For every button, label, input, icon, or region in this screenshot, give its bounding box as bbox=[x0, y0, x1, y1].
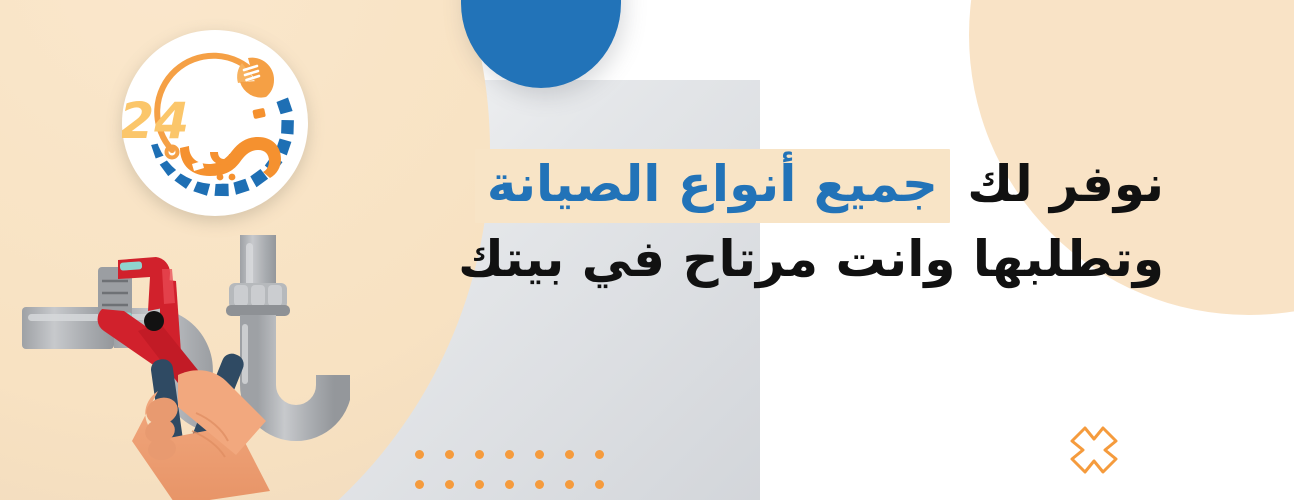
dot bbox=[445, 450, 454, 459]
headline-block: نوفر لك جميع أنواع الصيانة وتطلبها وانت … bbox=[524, 150, 1164, 292]
dot bbox=[505, 450, 514, 459]
brand-logo[interactable]: 24 bbox=[122, 30, 308, 216]
dot bbox=[535, 480, 544, 489]
headline-highlight: جميع أنواع الصيانة bbox=[475, 149, 950, 223]
dot bbox=[505, 480, 514, 489]
dot bbox=[595, 480, 604, 489]
logo-number-24: 24 bbox=[122, 92, 189, 150]
dot bbox=[565, 480, 574, 489]
dot bbox=[565, 450, 574, 459]
dot bbox=[475, 450, 484, 459]
logo-artwork: 24 bbox=[122, 30, 308, 216]
dot-row bbox=[415, 450, 604, 459]
blue-half-circle bbox=[461, 0, 621, 88]
headline-line-2: وتطلبها وانت مرتاح في بيتك bbox=[524, 227, 1164, 292]
dot bbox=[415, 480, 424, 489]
x-cross-icon bbox=[1068, 424, 1120, 476]
plumber-hand-with-pipe-wrench-illustration bbox=[10, 235, 350, 500]
dot bbox=[595, 450, 604, 459]
dot-row bbox=[415, 480, 604, 489]
dot-grid-decoration bbox=[415, 450, 604, 500]
pipe-fitting-nut bbox=[226, 283, 290, 316]
dot bbox=[415, 450, 424, 459]
dot bbox=[445, 480, 454, 489]
wrench-pivot-bolt bbox=[144, 311, 164, 331]
dot bbox=[535, 450, 544, 459]
headline-line-1: نوفر لك جميع أنواع الصيانة bbox=[524, 150, 1164, 219]
dot bbox=[475, 480, 484, 489]
promotional-banner: 24 نوفر لك جميع أنواع الصيانة وتطلبها وا… bbox=[0, 0, 1294, 500]
headline-prefix: نوفر لك bbox=[967, 155, 1164, 213]
p-trap-pipe bbox=[226, 235, 334, 423]
